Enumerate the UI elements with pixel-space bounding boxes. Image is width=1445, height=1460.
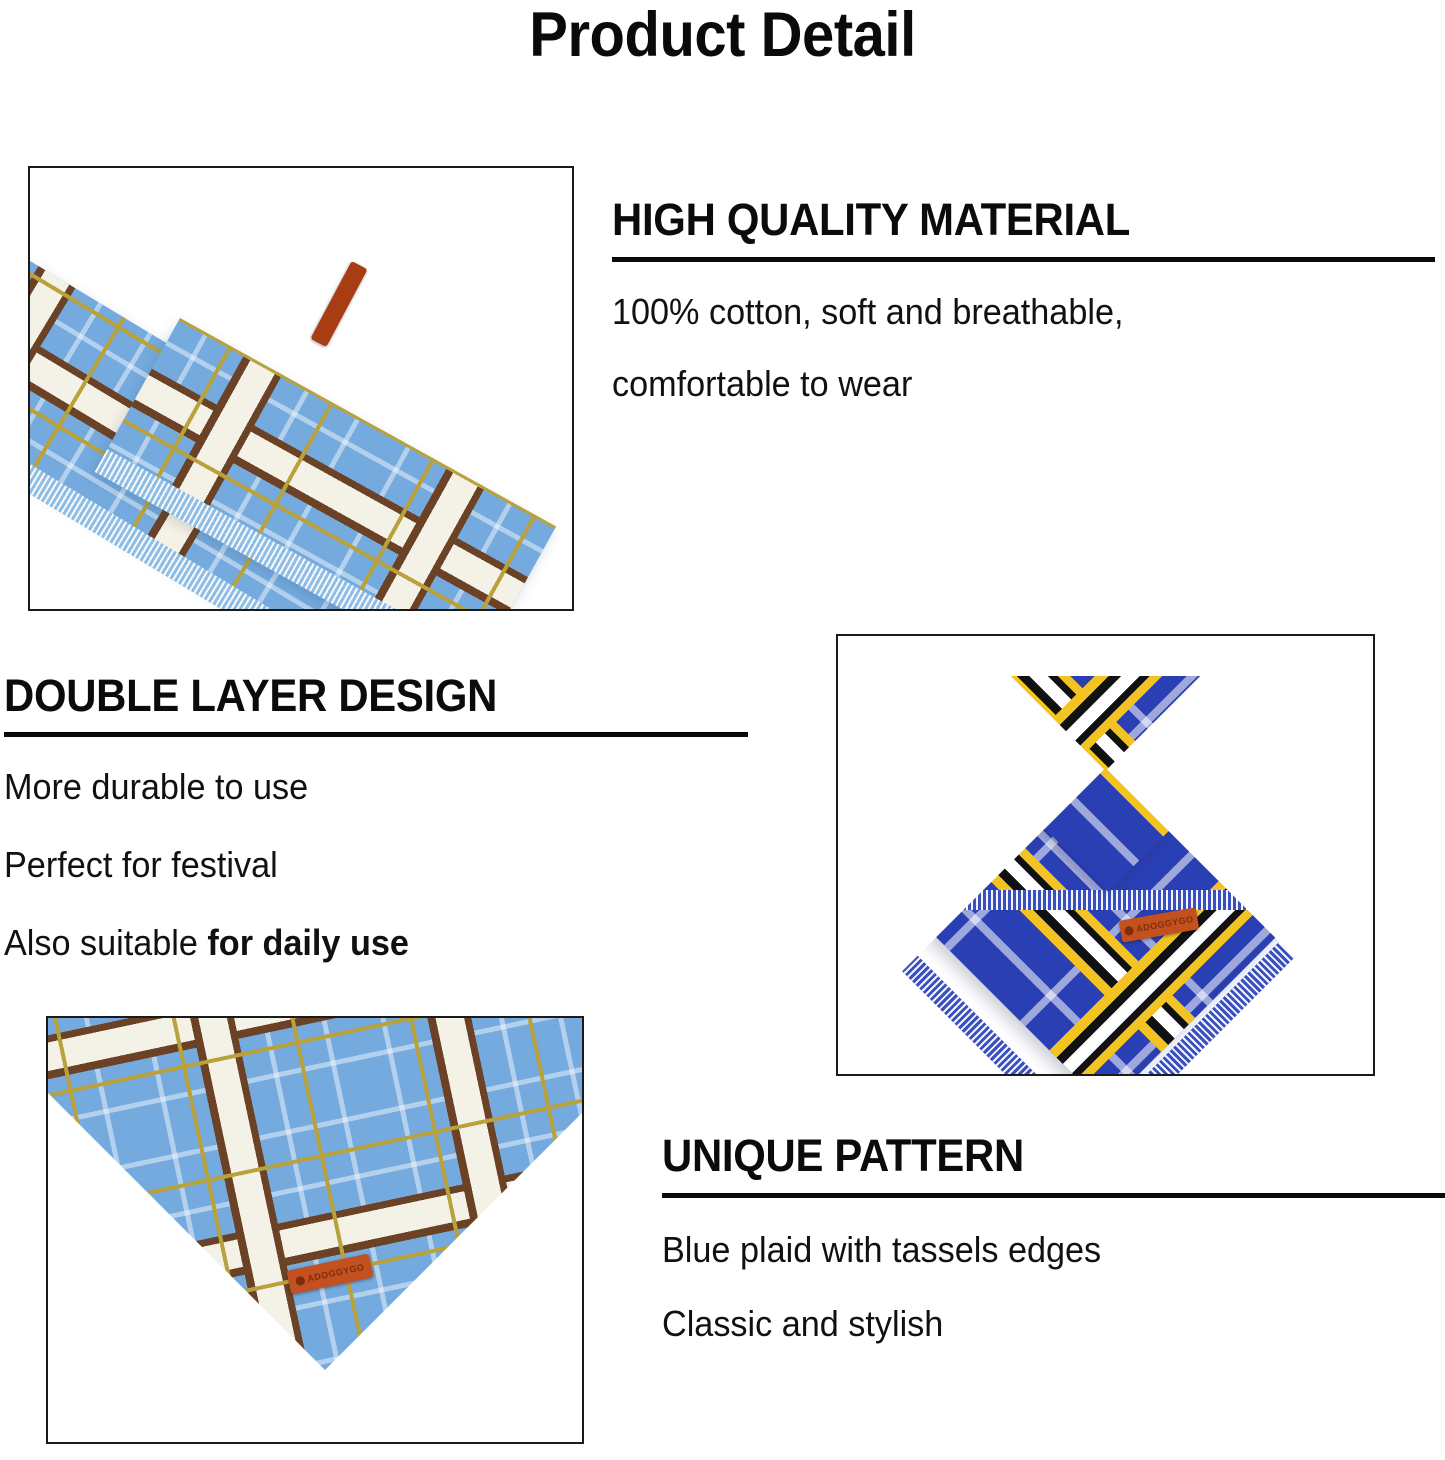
product-detail-infographic: Product Detail ADOGGYGO: [0, 0, 1445, 1460]
feature-line-emphasis: for daily use: [207, 922, 408, 963]
feature-line-mixed: Also suitable for daily use: [4, 925, 717, 961]
image-background-mask: [46, 1412, 584, 1444]
feature-line: More durable to use: [4, 769, 717, 805]
image-background-mask: [836, 634, 1375, 676]
heading-underline: [662, 1193, 1445, 1198]
feature-double-layer-design: DOUBLE LAYER DESIGN More durable to use …: [4, 672, 754, 1003]
photo-triangle-bandana-canvas: ADOGGYGO: [838, 636, 1373, 1074]
feature-line-plain: Also suitable: [4, 922, 207, 963]
photo-flat-corner: ADOGGYGO: [46, 1016, 584, 1444]
feature-high-quality-material: HIGH QUALITY MATERIAL 100% cotton, soft …: [612, 196, 1442, 438]
feature-heading: DOUBLE LAYER DESIGN: [4, 672, 702, 721]
feature-unique-pattern: UNIQUE PATTERN Blue plaid with tassels e…: [662, 1132, 1445, 1380]
feature-line: Classic and stylish: [662, 1306, 1406, 1342]
leather-tag-text: ADOGGYGO: [1135, 914, 1194, 934]
leather-tag-text: ADOGGYGO: [306, 1262, 365, 1284]
paw-print-icon: [295, 1275, 306, 1286]
photo-flat-corner-canvas: ADOGGYGO: [48, 1018, 582, 1442]
photo-folded-scarf-canvas: [30, 168, 572, 609]
photo-folded-scarf: [28, 166, 574, 611]
feature-heading: HIGH QUALITY MATERIAL: [612, 196, 1384, 245]
feature-body: More durable to use Perfect for festival…: [4, 769, 754, 961]
heading-underline: [4, 732, 748, 737]
feature-heading: UNIQUE PATTERN: [662, 1132, 1390, 1181]
feature-body: 100% cotton, soft and breathable, comfor…: [612, 294, 1442, 402]
feature-line: Perfect for festival: [4, 847, 717, 883]
leather-tag: [310, 261, 367, 347]
paw-print-icon: [1124, 925, 1134, 935]
feature-line: comfortable to wear: [612, 366, 1401, 402]
feature-body: Blue plaid with tassels edges Classic an…: [662, 1232, 1445, 1342]
page-title: Product Detail: [58, 2, 1387, 68]
feature-line: Blue plaid with tassels edges: [662, 1232, 1406, 1268]
feature-line: 100% cotton, soft and breathable,: [612, 294, 1401, 330]
heading-underline: [612, 257, 1435, 262]
photo-triangle-bandana: ADOGGYGO: [836, 634, 1375, 1076]
